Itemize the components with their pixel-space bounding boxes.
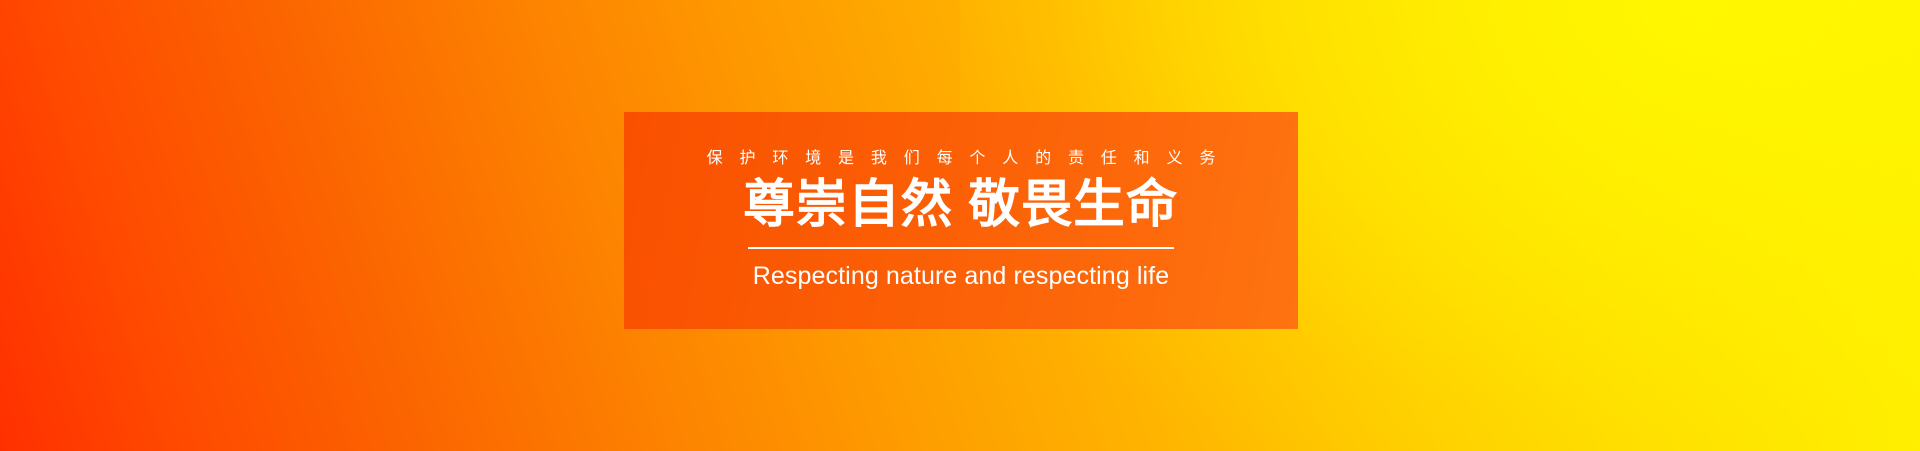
environment-banner: 保 护 环 境 是 我 们 每 个 人 的 责 任 和 义 务 尊崇自然 敬畏生… [0, 0, 1920, 451]
banner-subtitle: Respecting nature and respecting life [753, 262, 1169, 290]
headline-divider [748, 247, 1174, 249]
slogan-content: 保 护 环 境 是 我 们 每 个 人 的 责 任 和 义 务 尊崇自然 敬畏生… [746, 151, 1176, 290]
banner-tagline: 保 护 环 境 是 我 们 每 个 人 的 责 任 和 义 务 [700, 151, 1221, 167]
slogan-panel: 保 护 环 境 是 我 们 每 个 人 的 责 任 和 义 务 尊崇自然 敬畏生… [624, 112, 1298, 329]
banner-headline: 尊崇自然 敬畏生命 [743, 178, 1178, 233]
